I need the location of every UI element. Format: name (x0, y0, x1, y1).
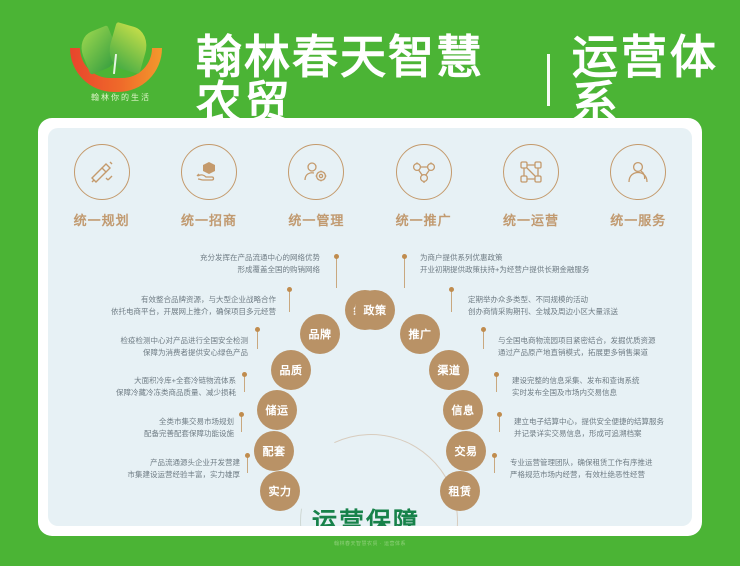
note-line: 依托电商平台，开展网上推介，确保项目多元经营 (48, 306, 276, 318)
stem-right-3 (496, 376, 497, 392)
note-right-0: 为商户提供系列优惠政策 开业初期提供政策扶持+为经营户提供长期金融服务 (420, 252, 692, 277)
note-line: 创办商情采购期刊、全城及周边小区大量派送 (468, 306, 692, 318)
dot-left-3 (242, 372, 247, 377)
note-line: 并记录详实交易信息，形成可追溯档案 (514, 428, 692, 440)
nodes-grid-icon (503, 144, 559, 200)
page-title: 翰林春天智慧农贸 (196, 34, 525, 126)
center-title: 运营保障 (308, 502, 424, 526)
note-line: 建立电子结算中心，提供安全便捷的结算服务 (514, 416, 692, 428)
dot-right-0 (402, 254, 407, 259)
note-right-2: 与全国电商物流园项目紧密结合，发掘优质资源 通过产品原产地直销模式，拓展更多销售… (498, 335, 692, 360)
note-line: 全类市集交易市场规划 (48, 416, 234, 428)
bubble-left-3[interactable]: 储运 (257, 390, 297, 430)
stem-right-1 (451, 291, 452, 312)
pillar-operation[interactable]: 统一运营 (477, 144, 584, 229)
note-right-5: 专业运营管理团队，确保租赁工作有序推进 严格规范市场内经营，有效杜绝恶性经营 (510, 457, 692, 482)
stem-left-5 (247, 457, 248, 473)
share-network-icon (396, 144, 452, 200)
page-subtitle: 运营体系 (572, 34, 740, 126)
pillar-label: 统一运营 (503, 210, 559, 229)
dot-left-5 (245, 453, 250, 458)
bubble-left-2[interactable]: 品质 (271, 350, 311, 390)
note-right-3: 建设完整的信息采集、发布和查询系统 实时发布全国及市场内交易信息 (512, 375, 692, 400)
center-block: 运营保障 成就市集行业做旺翘楚 (320, 502, 424, 526)
dot-right-1 (449, 287, 454, 292)
stem-left-4 (241, 416, 242, 432)
dot-right-3 (494, 372, 499, 377)
svg-text:商: 商 (205, 164, 212, 173)
bubble-right-3[interactable]: 信息 (443, 390, 483, 430)
pillar-planning[interactable]: 统一规划 (48, 144, 155, 229)
note-left-2: 检疫检测中心对产品进行全国安全检测 保障为消费者提供安心绿色产品 (48, 335, 248, 360)
poster-root: 翰林你的生活 翰林春天智慧农贸 运营体系 统 (0, 0, 740, 566)
note-line: 形成覆盖全国的购销网络 (58, 264, 320, 276)
footer-text: 翰林春天智慧农贸 · 运营体系 (0, 540, 740, 547)
dot-left-0 (334, 254, 339, 259)
header-title-group: 翰林春天智慧农贸 运营体系 (196, 34, 740, 126)
stem-right-0 (404, 258, 405, 288)
user-gear-icon (288, 144, 344, 200)
stem-left-1 (289, 291, 290, 312)
content-panel: 统一规划 商 统一招商 (48, 128, 692, 526)
pencil-ruler-icon (74, 144, 130, 200)
note-left-5: 产品流通源头企业开发营建 市集建设运营经验丰富，实力雄厚 (48, 457, 240, 482)
note-line: 严格规范市场内经营，有效杜绝恶性经营 (510, 469, 692, 481)
dot-left-4 (239, 412, 244, 417)
user-service-icon (610, 144, 666, 200)
note-line: 与全国电商物流园项目紧密结合，发掘优质资源 (498, 335, 692, 347)
note-left-1: 有效整合品牌资源，与大型企业战略合作 依托电商平台，开展网上推介，确保项目多元经… (48, 294, 276, 319)
logo-tagline: 翰林你的生活 (62, 92, 180, 103)
bubble-right-2[interactable]: 渠道 (429, 350, 469, 390)
note-line: 定期举办众多类型、不同规模的活动 (468, 294, 692, 306)
note-line: 产品流通源头企业开发营建 (48, 457, 240, 469)
note-line: 为商户提供系列优惠政策 (420, 252, 692, 264)
pillar-label: 统一管理 (288, 210, 344, 229)
bubble-right-5[interactable]: 租赁 (440, 471, 480, 511)
note-line: 有效整合品牌资源，与大型企业战略合作 (48, 294, 276, 306)
pillar-promotion[interactable]: 统一推广 (370, 144, 477, 229)
bubble-left-1[interactable]: 品牌 (300, 314, 340, 354)
hand-merchant-icon: 商 (181, 144, 237, 200)
pillar-investment[interactable]: 商 统一招商 (155, 144, 262, 229)
note-line: 开业初期提供政策扶持+为经营户提供长期金融服务 (420, 264, 692, 276)
note-left-3: 大面积冷库+全套冷链物流体系 保障冷藏冷冻类商品质量、减少损耗 (48, 375, 236, 400)
note-line: 专业运营管理团队，确保租赁工作有序推进 (510, 457, 692, 469)
stem-left-2 (257, 331, 258, 349)
note-right-4: 建立电子结算中心，提供安全便捷的结算服务 并记录详实交易信息，形成可追溯档案 (514, 416, 692, 441)
note-line: 实时发布全国及市场内交易信息 (512, 387, 692, 399)
note-line: 保障冷藏冷冻类商品质量、减少损耗 (48, 387, 236, 399)
stem-right-4 (499, 416, 500, 432)
dot-right-5 (492, 453, 497, 458)
stem-left-0 (336, 258, 337, 288)
pillar-management[interactable]: 统一管理 (263, 144, 370, 229)
note-left-0: 充分发挥在产品流通中心的网络优势 形成覆盖全国的购销网络 (58, 252, 320, 277)
note-line: 配备完善配套保障功能设施 (48, 428, 234, 440)
stem-right-5 (494, 457, 495, 473)
dot-right-4 (497, 412, 502, 417)
note-right-1: 定期举办众多类型、不同规模的活动 创办商情采购期刊、全城及周边小区大量派送 (468, 294, 692, 319)
note-line: 通过产品原产地直销模式，拓展更多销售渠道 (498, 347, 692, 359)
stem-right-2 (483, 331, 484, 349)
pillar-label: 统一服务 (610, 210, 666, 229)
note-line: 市集建设运营经验丰富，实力雄厚 (48, 469, 240, 481)
note-line: 保障为消费者提供安心绿色产品 (48, 347, 248, 359)
note-line: 建设完整的信息采集、发布和查询系统 (512, 375, 692, 387)
note-line: 充分发挥在产品流通中心的网络优势 (58, 252, 320, 264)
bubble-right-4[interactable]: 交易 (446, 431, 486, 471)
pillar-label: 统一规划 (74, 210, 130, 229)
content-card: 统一规划 商 统一招商 (38, 118, 702, 536)
stem-left-3 (244, 376, 245, 392)
bubble-right-1[interactable]: 推广 (400, 314, 440, 354)
note-line: 检疫检测中心对产品进行全国安全检测 (48, 335, 248, 347)
bubble-right-0[interactable]: 政策 (355, 290, 395, 330)
note-line: 大面积冷库+全套冷链物流体系 (48, 375, 236, 387)
note-left-4: 全类市集交易市场规划 配备完善配套保障功能设施 (48, 416, 234, 441)
header: 翰林你的生活 翰林春天智慧农贸 运营体系 (0, 0, 740, 118)
pillar-service[interactable]: 统一服务 (585, 144, 692, 229)
leaf-bowl-logo-icon (62, 26, 172, 90)
bubble-left-4[interactable]: 配套 (254, 431, 294, 471)
dot-left-1 (287, 287, 292, 292)
pillars-row: 统一规划 商 统一招商 (48, 144, 692, 229)
brand-logo: 翰林你的生活 (62, 26, 180, 112)
pillar-label: 统一推广 (396, 210, 452, 229)
title-divider (547, 54, 550, 106)
dot-left-2 (255, 327, 260, 332)
dot-right-2 (481, 327, 486, 332)
pillar-label: 统一招商 (181, 210, 237, 229)
bubble-left-5[interactable]: 实力 (260, 471, 300, 511)
